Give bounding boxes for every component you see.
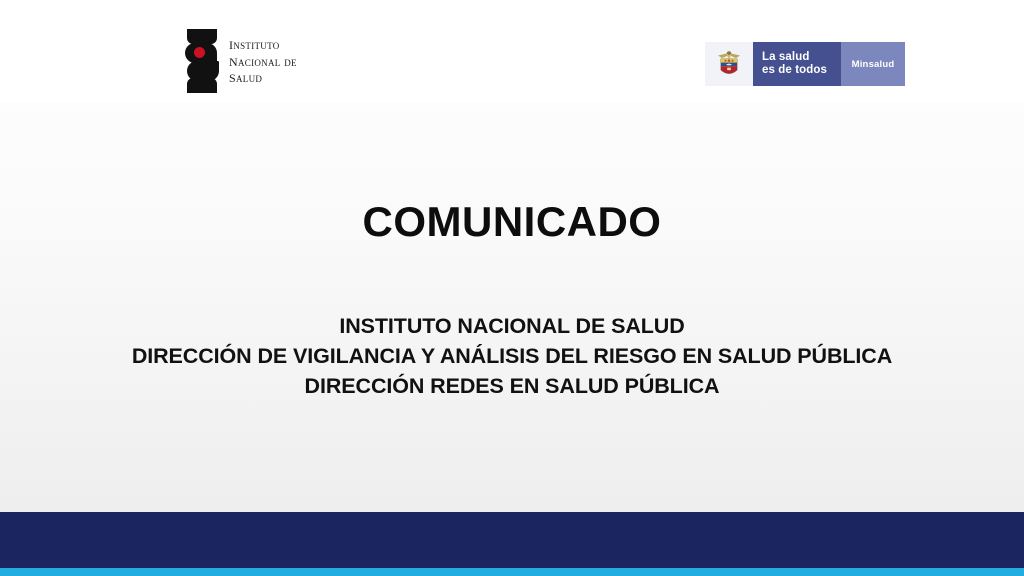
colombia-crest-icon — [705, 42, 753, 86]
minsalud-tagline-line-1: La salud — [762, 51, 827, 64]
footer-cyan-bar — [0, 568, 1024, 576]
ins-wordmark-line-2: Nacional de — [229, 53, 297, 70]
page-title: COMUNICADO — [0, 198, 1024, 246]
ins-wordmark-line-3: Salud — [229, 69, 297, 86]
slide-body — [0, 102, 1024, 512]
ins-logo: Instituto Nacional de Salud — [185, 28, 335, 94]
ins-wordmark-line-1: Instituto — [229, 36, 297, 53]
subtitle-block: INSTITUTO NACIONAL DE SALUD DIRECCIÓN DE… — [0, 311, 1024, 401]
ins-logo-mark-icon — [185, 29, 219, 93]
ins-logo-red-dot-icon — [194, 47, 205, 58]
minsalud-banner: La salud es de todos Minsalud — [705, 42, 905, 86]
slide-root: Instituto Nacional de Salud — [0, 0, 1024, 576]
subtitle-line-2: DIRECCIÓN DE VIGILANCIA Y ANÁLISIS DEL R… — [0, 341, 1024, 371]
footer-navy-bar — [0, 512, 1024, 568]
minsalud-tagline: La salud es de todos — [753, 42, 841, 86]
minsalud-brand-label: Minsalud — [841, 42, 905, 86]
subtitle-line-3: DIRECCIÓN REDES EN SALUD PÚBLICA — [0, 371, 1024, 401]
ins-logo-wordmark: Instituto Nacional de Salud — [229, 36, 297, 86]
minsalud-tagline-line-2: es de todos — [762, 64, 827, 77]
subtitle-line-1: INSTITUTO NACIONAL DE SALUD — [0, 311, 1024, 341]
